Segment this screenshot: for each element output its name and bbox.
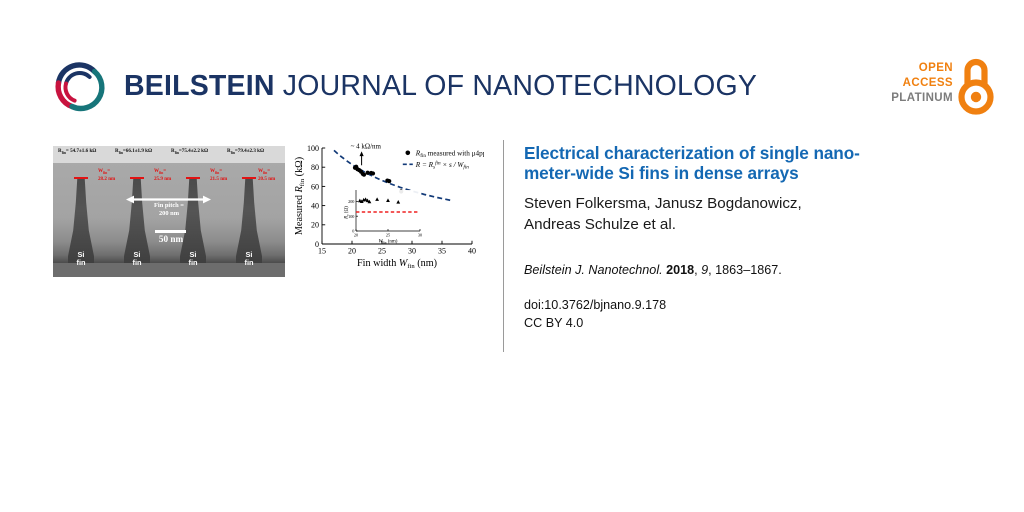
article-license[interactable]: CC BY 4.0 [524,316,583,330]
svg-text:0: 0 [352,229,354,234]
article-title-line-1: Electrical characterization of single na… [524,143,860,163]
citation-pages: 1863–1867. [715,263,782,277]
tem-micrograph-figure: Rfin= 54.7±1.6 kΩ Rfin=66.1±1.9 kΩ Rfin=… [53,146,285,277]
resistance-vs-fin-width-chart: 152025303540020406080100Fin width Wfin (… [292,136,484,281]
article-authors: Steven Folkersma, Janusz Bogdanowicz, An… [524,194,954,235]
vertical-divider [503,140,504,352]
open-lock-icon [957,57,997,115]
svg-text:100: 100 [307,144,319,153]
svg-text:80: 80 [311,163,319,172]
fin-resistance-label: Rfin= 54.7±1.6 kΩ [58,148,96,155]
oa-line-open: OPEN [885,61,953,76]
scale-bar [155,230,186,233]
journal-wordmark: BEILSTEIN JOURNAL OF NANOTECHNOLOGY [124,70,757,103]
svg-text:30: 30 [408,247,416,256]
fin-width-label: Wfin=21.5 nm [210,168,227,183]
article-doi-block: doi:10.3762/bjnano.9.178 CC BY 4.0 [524,296,954,332]
citation-journal: Beilstein J. Nanotechnol. [524,263,663,277]
article-citation: Beilstein J. Nanotechnol. 2018, 9, 1863–… [524,262,954,279]
fin-resistance-label: Rfin=79.4±2.3 kΩ [227,148,264,155]
svg-text:Fin width Wfin (nm): Fin width Wfin (nm) [357,258,437,270]
svg-text:0: 0 [315,240,319,249]
citation-year: 2018 [666,263,694,277]
svg-text:20: 20 [311,221,319,230]
svg-text:30: 30 [418,232,422,237]
article-title[interactable]: Electrical characterization of single na… [524,143,954,183]
fin-pitch-label: Fin pitch =200 nm [137,202,201,217]
svg-text:Measured Rfin (kΩ): Measured Rfin (kΩ) [294,157,306,235]
beilstein-swirl-logo-icon [48,57,108,117]
open-access-badge: OPEN ACCESS PLATINUM [885,57,995,119]
fin-width-label: Wfin=25.9 nm [154,168,171,183]
svg-text:~ 4 kΩ/nm: ~ 4 kΩ/nm [351,142,382,150]
svg-text:35: 35 [438,247,446,256]
si-fin-label: Sifin [181,251,205,268]
svg-text:40: 40 [468,247,476,256]
si-fin-label: Sifin [125,251,149,268]
authors-line-2: Andreas Schulze et al. [524,216,676,233]
svg-text:20: 20 [354,232,358,237]
open-access-text: OPEN ACCESS PLATINUM [885,61,953,106]
fin-width-marker [186,177,200,179]
fin-pitch-arrow-icon [126,191,211,200]
fin-width-marker [242,177,256,179]
article-metadata: Electrical characterization of single na… [524,143,954,332]
fin-width-label: Wfin=20.5 nm [258,168,275,183]
fin-width-marker [74,177,88,179]
wordmark-light: JOURNAL OF NANOTECHNOLOGY [275,70,757,102]
svg-text:25: 25 [386,232,390,237]
wordmark-bold: BEILSTEIN [124,70,275,102]
svg-text:Rfin measured with μ4pp: Rfin measured with μ4pp [415,149,484,159]
svg-text:Rs (Ω): Rs (Ω) [345,206,350,220]
chart-svg: 152025303540020406080100Fin width Wfin (… [292,136,484,281]
masthead: BEILSTEIN JOURNAL OF NANOTECHNOLOGY OPEN… [0,0,1024,135]
svg-text:60: 60 [311,182,319,191]
svg-text:20: 20 [348,247,356,256]
fin-width-marker [130,177,144,179]
article-doi[interactable]: doi:10.3762/bjnano.9.178 [524,298,666,312]
svg-text:200: 200 [348,199,354,204]
fin-resistance-label: Rfin=66.1±1.9 kΩ [115,148,152,155]
svg-text:40: 40 [311,202,319,211]
oa-line-access: ACCESS [885,76,953,91]
svg-text:Wfin (nm): Wfin (nm) [379,239,398,244]
fin-width-label: Wfin=28.2 nm [98,168,115,183]
si-fin-label: Sifin [69,251,93,268]
citation-volume: 9 [701,263,708,277]
svg-text:R = Rsfin × s / Wfin: R = Rsfin × s / Wfin [415,159,469,170]
authors-line-1: Steven Folkersma, Janusz Bogdanowicz, [524,195,802,212]
scale-bar-label: 50 nm [145,234,197,244]
svg-text:15: 15 [318,247,326,256]
article-title-line-2: meter-wide Si fins in dense arrays [524,163,799,183]
fin-resistance-label: Rfin=75.4±2.2 kΩ [171,148,208,155]
svg-text:25: 25 [378,247,386,256]
si-fin-label: Sifin [237,251,261,268]
oa-line-platinum: PLATINUM [885,91,953,106]
